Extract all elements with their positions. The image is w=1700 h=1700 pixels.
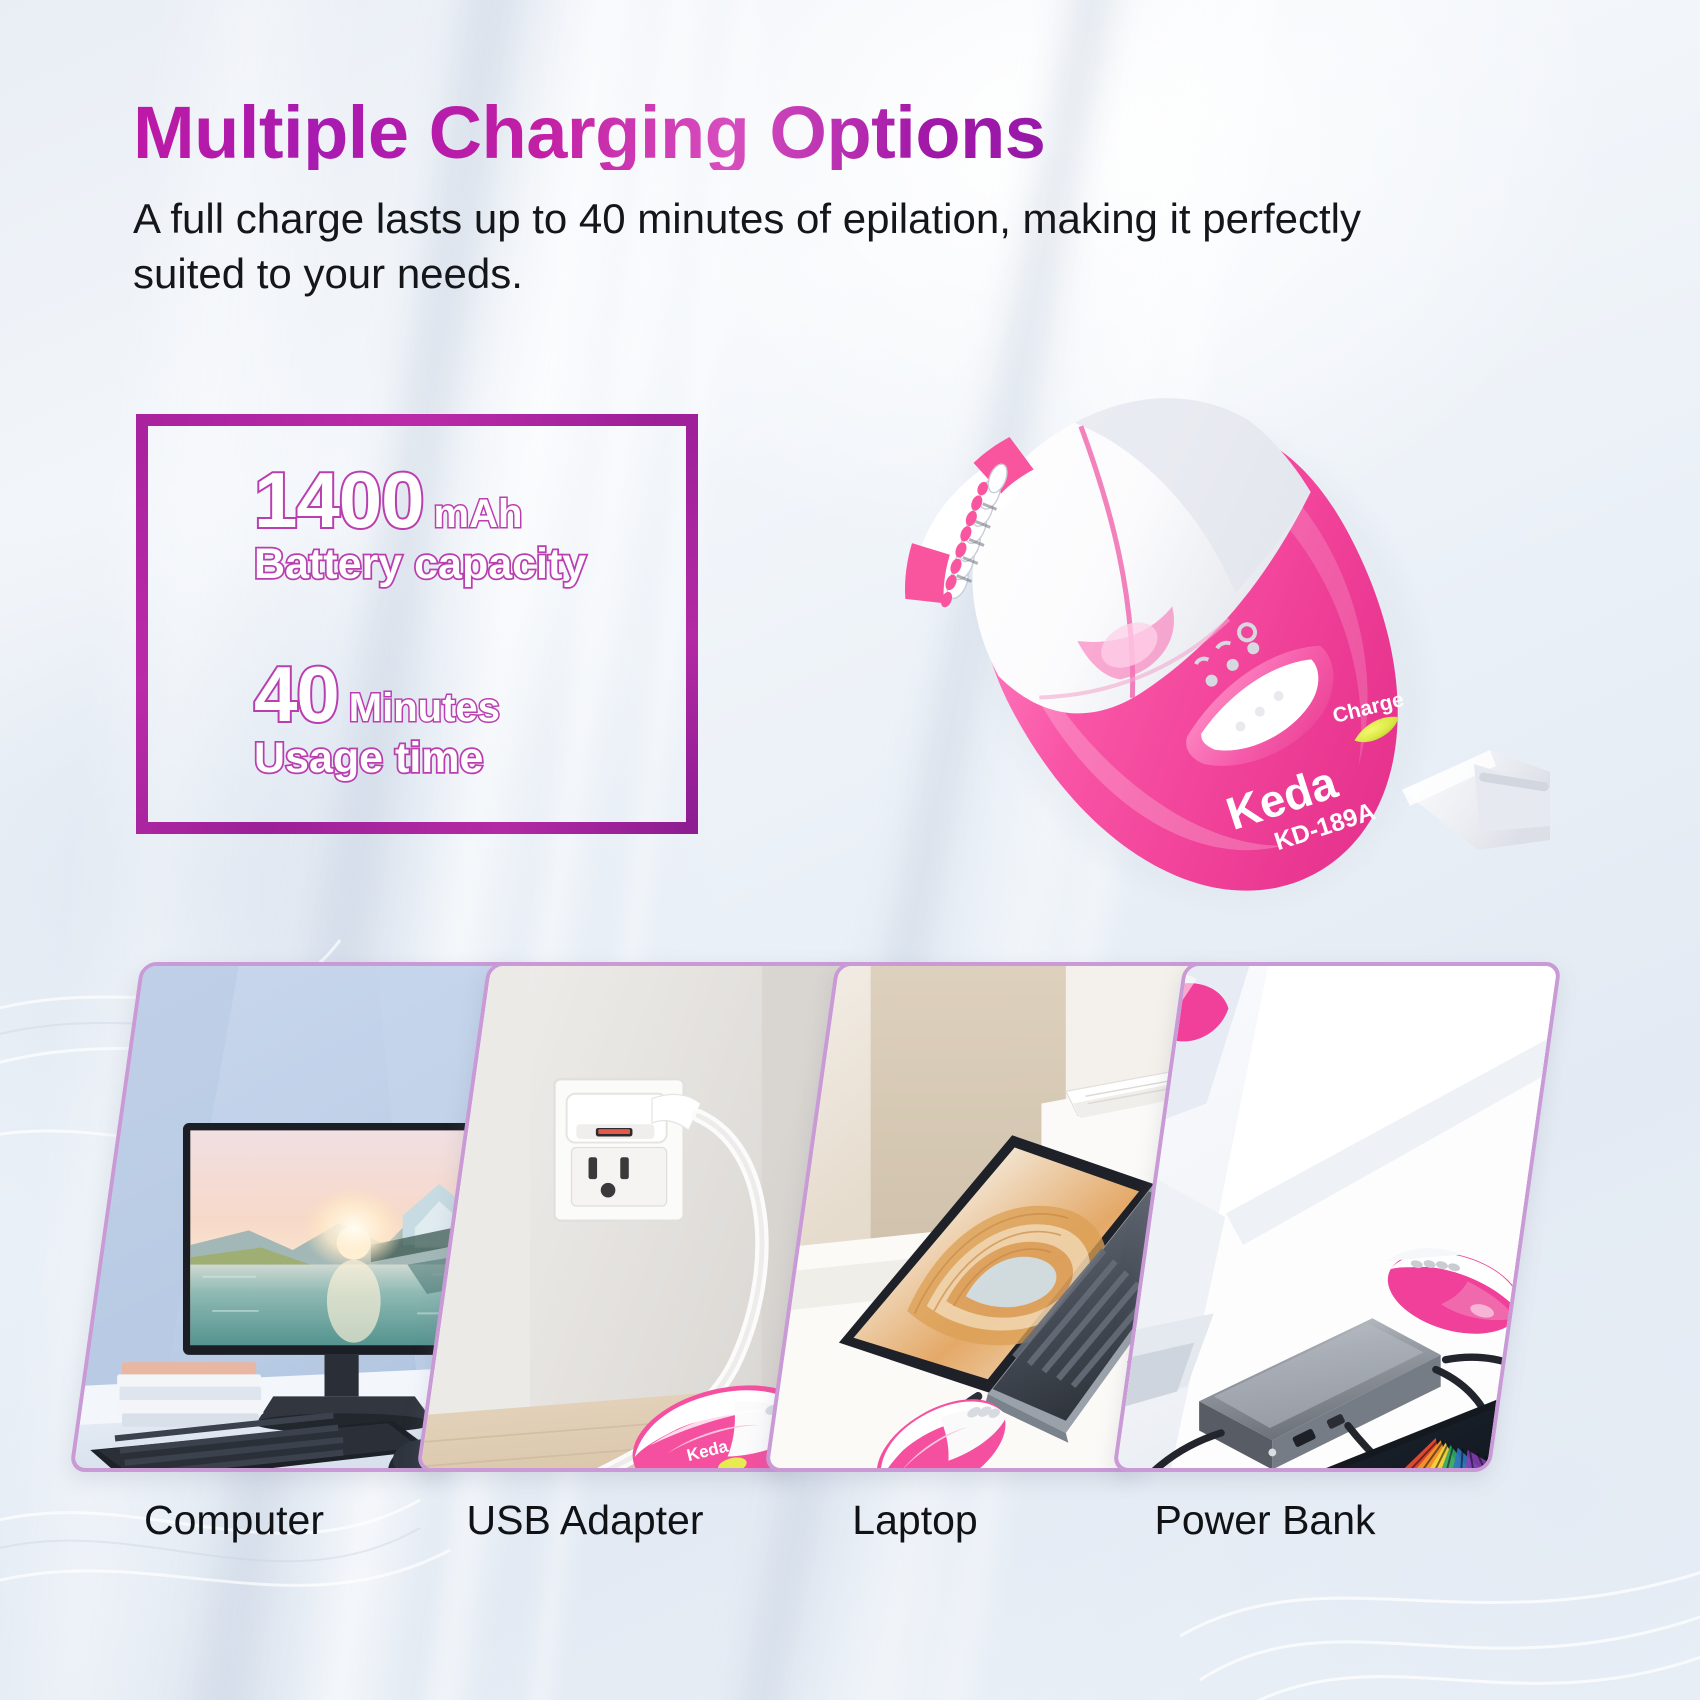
stat-value-minutes: 40 (254, 656, 339, 732)
charging-cable (1402, 750, 1550, 850)
header-block: Multiple Charging Options A full charge … (133, 96, 1493, 301)
battery-stats-box: 1400 mAh Battery capacity 40 Minutes Usa… (136, 414, 698, 834)
charging-panel-power-bank[interactable] (1112, 962, 1562, 1472)
stat-label-capacity: Battery capacity (254, 540, 586, 588)
stat-unit-minutes: Minutes (349, 686, 500, 731)
stat-value-capacity: 1400 (254, 462, 424, 538)
page-title: Multiple Charging Options (133, 96, 1493, 170)
stat-unit-mah: mAh (434, 492, 523, 537)
epilator-product-image: Charge Keda KD-189A (790, 320, 1550, 940)
book-stack (115, 1362, 264, 1427)
stat-usage-time: 40 Minutes Usage time (254, 656, 500, 783)
stat-battery-capacity: 1400 mAh Battery capacity (254, 462, 586, 589)
power-bank-scene (1112, 962, 1562, 1472)
stat-label-usage: Usage time (254, 734, 500, 782)
charging-panels-row: Keda (0, 962, 1700, 1482)
page-subtitle: A full charge lasts up to 40 minutes of … (133, 192, 1443, 301)
epilator-illustration: Charge Keda KD-189A (790, 320, 1550, 940)
panel-labels-row: Computer USB Adapter Laptop Power Bank (0, 1497, 1700, 1587)
panel-label-power-bank: Power Bank (1055, 1497, 1475, 1544)
